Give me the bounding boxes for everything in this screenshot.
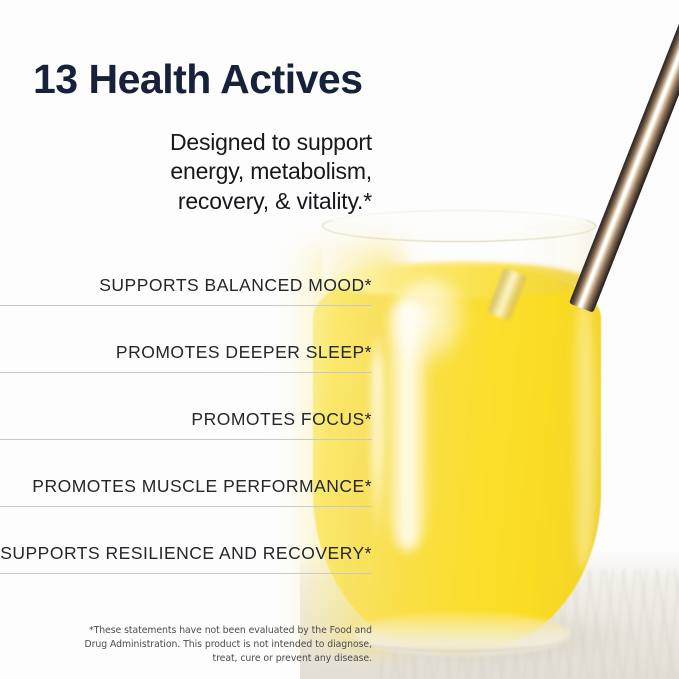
benefit-divider [0, 573, 372, 574]
benefit-divider [0, 372, 372, 373]
list-item: SUPPORTS RESILIENCE AND RECOVERY* [0, 516, 372, 583]
list-item: PROMOTES FOCUS* [0, 382, 372, 449]
list-item: PROMOTES DEEPER SLEEP* [0, 315, 372, 382]
benefit-label: PROMOTES MUSCLE PERFORMANCE* [32, 476, 372, 497]
fda-disclaimer: *These statements have not been evaluate… [78, 624, 372, 665]
product-benefits-card: 13 Health Actives Designed to support en… [0, 0, 679, 679]
benefit-divider [0, 439, 372, 440]
benefit-label: PROMOTES FOCUS* [191, 409, 372, 430]
page-title: 13 Health Actives [33, 57, 363, 102]
subtitle-line-2: energy, metabolism, [60, 157, 372, 186]
benefit-label: SUPPORTS RESILIENCE AND RECOVERY* [0, 543, 372, 564]
subtitle: Designed to support energy, metabolism, … [60, 128, 372, 216]
benefit-label: SUPPORTS BALANCED MOOD* [99, 275, 372, 296]
list-item: SUPPORTS BALANCED MOOD* [0, 248, 372, 315]
subtitle-line-3: recovery, & vitality.* [60, 187, 372, 216]
subtitle-line-1: Designed to support [60, 128, 372, 157]
benefits-list: SUPPORTS BALANCED MOOD* PROMOTES DEEPER … [0, 248, 372, 583]
text-content: 13 Health Actives Designed to support en… [0, 0, 679, 679]
benefit-divider [0, 506, 372, 507]
list-item: PROMOTES MUSCLE PERFORMANCE* [0, 449, 372, 516]
benefit-divider [0, 305, 372, 306]
benefit-label: PROMOTES DEEPER SLEEP* [116, 342, 372, 363]
